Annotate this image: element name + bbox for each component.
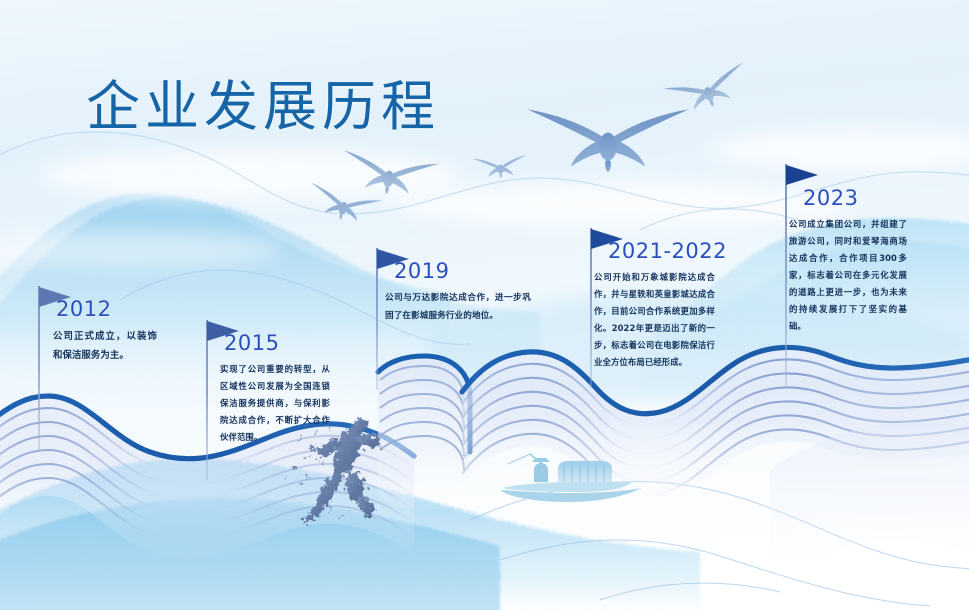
flag-pole: [38, 286, 40, 452]
milestone-description: 公司正式成立，以装饰和保洁服务为主。: [53, 327, 157, 365]
page-title: 企业发展历程: [86, 62, 440, 141]
milestone-description: 实现了公司重要的转型，从区域性公司发展为全国连锁保洁服务提供商，与保利影院达成合…: [220, 361, 330, 446]
flag-pennant-icon: [786, 164, 820, 186]
flag-pole: [206, 320, 208, 480]
flag-pole: [590, 228, 592, 388]
boat-group: [500, 454, 662, 516]
milestone-description: 公司与万达影院达成合作，进一步巩固了在影城服务行业的地位。: [385, 289, 531, 325]
milestone-year: 2019: [394, 259, 449, 283]
flag-pole: [785, 164, 787, 388]
milestone-year: 2012: [56, 297, 111, 321]
milestone-year: 2015: [224, 331, 279, 355]
milestone-year: 2023: [803, 186, 858, 210]
milestone-year: 2021-2022: [608, 239, 727, 263]
poster-canvas: 2012 公司正式成立，以装饰和保洁服务为主。 2015 实现了公司重要的转型，…: [0, 0, 969, 610]
milestone-description: 公司成立集团公司，并组建了旅游公司，同时和爱琴海商场达成合作，合作项目300多家…: [789, 216, 907, 335]
milestone-description: 公司开始和万象城影院达成合作，并与星轶和英皇影城达成合作，目前公司合作系统更加多…: [594, 269, 715, 371]
